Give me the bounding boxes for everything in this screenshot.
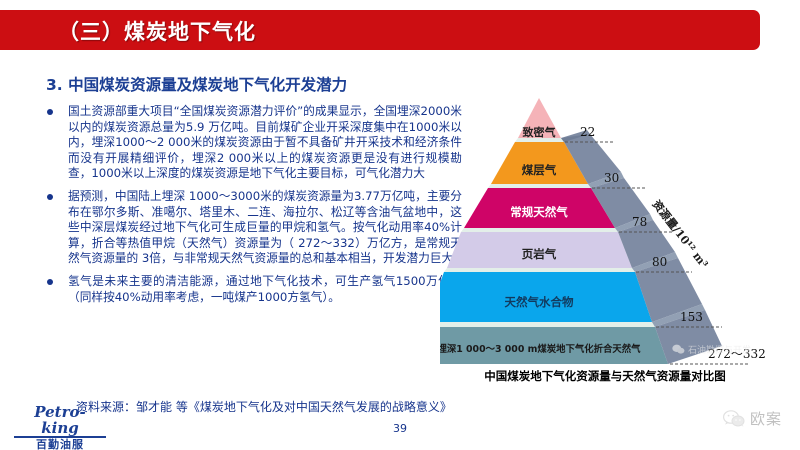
bullet-dot-icon bbox=[47, 194, 53, 200]
logo-english-text: Petro-king bbox=[14, 404, 106, 438]
bullet-text: 国土资源部重大项目“全国煤炭资源潜力评价”的成果显示，全国埋深2000米以内的煤… bbox=[68, 104, 462, 182]
wechat-icon bbox=[723, 410, 745, 428]
pyramid-value-4: 80 bbox=[652, 255, 667, 269]
pyramid-label-6: 埋深1 000～3 000 m煤炭地下气化折合天然气 bbox=[440, 343, 641, 355]
bullet-list: 国土资源部重大项目“全国煤炭资源潜力评价”的成果显示，全国埋深2000米以内的煤… bbox=[44, 104, 462, 312]
wechat-account-name: 欧案 bbox=[750, 408, 782, 429]
pyramid-label-5: 天然气水合物 bbox=[505, 295, 574, 309]
bullet-dot-icon bbox=[47, 109, 53, 115]
bullet-text: 氢气是未来主要的清洁能源，通过地下气化技术，可生产氢气1500万亿方（同样按40… bbox=[68, 274, 462, 305]
section-heading: 3. 中国煤炭资源量及煤炭地下气化开发潜力 bbox=[46, 73, 347, 95]
pyramid-label-3: 常规天然气 bbox=[510, 205, 568, 219]
logo-chinese-text: 百勤油服 bbox=[14, 438, 106, 450]
pyramid-value-5: 153 bbox=[680, 310, 703, 324]
list-item: 氢气是未来主要的清洁能源，通过地下气化技术，可生产氢气1500万亿方（同样按40… bbox=[44, 274, 462, 305]
page-number: 39 bbox=[0, 422, 800, 435]
figure-watermark: 石油勘探与开发 bbox=[672, 343, 751, 356]
pyramid-value-3: 78 bbox=[632, 215, 647, 229]
bullet-text: 据预测，中国陆上埋深 1000～3000米的煤炭资源量为3.77万亿吨，主要分布… bbox=[68, 189, 462, 267]
pyramid-label-4: 页岩气 bbox=[522, 247, 557, 261]
wechat-icon bbox=[672, 344, 685, 355]
petroking-logo: Petro-king 百勤油服 bbox=[14, 404, 106, 450]
bullet-dot-icon bbox=[47, 279, 53, 285]
pyramid-label-1: 致密气 bbox=[523, 125, 556, 139]
slide-root: （三）煤炭地下气化 3. 中国煤炭资源量及煤炭地下气化开发潜力 国土资源部重大项… bbox=[0, 0, 800, 450]
list-item: 据预测，中国陆上埋深 1000～3000米的煤炭资源量为3.77万亿吨，主要分布… bbox=[44, 189, 462, 267]
page-title: （三）煤炭地下气化 bbox=[58, 16, 256, 46]
source-citation: 资料来源：邹才能 等《煤炭地下气化及对中国天然气发展的战略意义》 bbox=[76, 398, 452, 415]
wechat-account-mark: 欧案 bbox=[723, 408, 782, 429]
pyramid-value-2: 30 bbox=[604, 171, 619, 185]
watermark-text: 石油勘探与开发 bbox=[688, 343, 751, 356]
list-item: 国土资源部重大项目“全国煤炭资源潜力评价”的成果显示，全国埋深2000米以内的煤… bbox=[44, 104, 462, 182]
pyramid-label-2: 煤层气 bbox=[522, 163, 557, 177]
figure-caption: 中国煤炭地下气化资源量与天然气资源量对比图 bbox=[440, 368, 770, 384]
pyramid-value-1: 22 bbox=[580, 125, 595, 139]
